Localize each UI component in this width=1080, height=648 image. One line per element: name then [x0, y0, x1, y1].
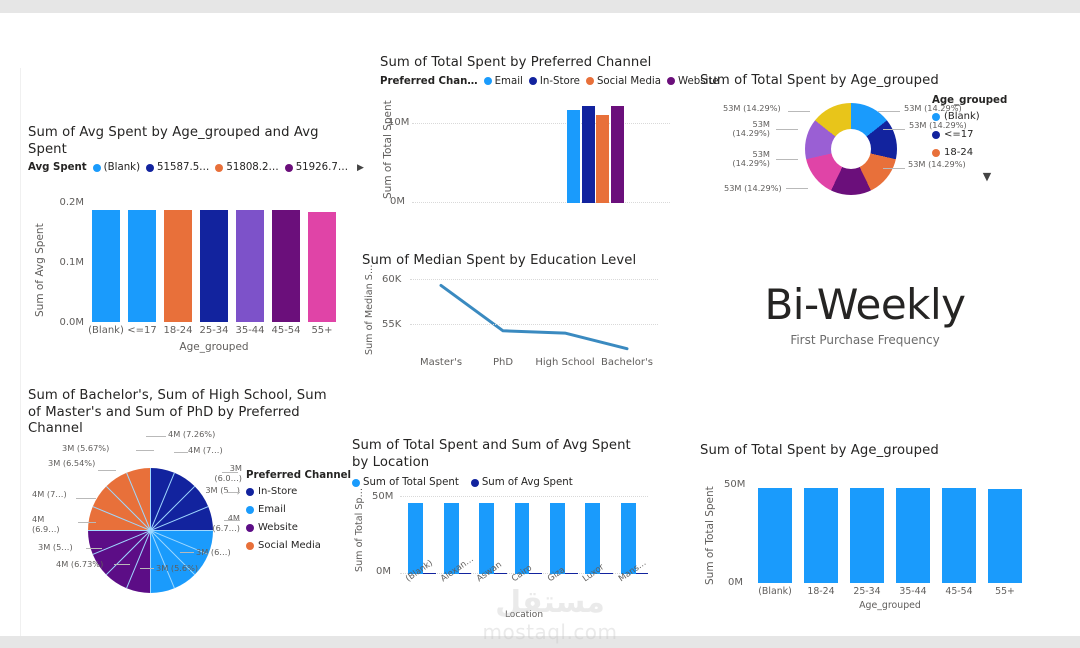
plot-area [400, 496, 648, 574]
chart-title: Sum of Total Spent and Sum of Avg Spent … [352, 438, 632, 471]
chart-title: Sum of Total Spent by Preferred Channel [380, 55, 680, 72]
chart-title: Sum of Total Spent by Age_grouped [700, 443, 1050, 460]
legend-item[interactable]: Sum of Avg Spent [471, 477, 573, 488]
slice-label: 4M (6.9…) [32, 515, 74, 534]
x-tick: (Blank) [88, 325, 124, 336]
line-series [410, 279, 658, 357]
slice-label: 3M (5.67%) [62, 444, 109, 454]
y-tick: 10M [388, 117, 409, 128]
gridline [412, 123, 670, 124]
leader-line [776, 159, 798, 160]
plot-area [752, 483, 1028, 583]
y-tick: 50M [372, 491, 393, 502]
legend-item[interactable]: Social Media [246, 540, 366, 551]
bar[interactable] [611, 106, 624, 203]
legend-item[interactable]: Email [484, 76, 523, 87]
slice-label: 53M (14.29%) [724, 184, 782, 193]
legend-swatch-icon [246, 524, 254, 532]
leader-line [86, 548, 102, 549]
x-axis-ticks: (Blank)Alexan…AswanCairoGizaLuxorMans… [400, 574, 648, 604]
bar[interactable] [804, 488, 837, 583]
x-tick: PhD [493, 357, 513, 368]
chart-title: Sum of Avg Spent by Age_grouped and Avg … [28, 125, 358, 158]
legend-swatch-icon [529, 77, 537, 85]
report-canvas: Sum of Avg Spent by Age_grouped and Avg … [0, 13, 1080, 636]
caret-down-icon[interactable]: ▼ [932, 170, 1042, 183]
y-tick: 0.1M [59, 257, 84, 268]
x-tick: 18-24 [163, 325, 192, 336]
pie-separator [106, 486, 151, 531]
leader-line [883, 168, 905, 169]
chart-total-spent-by-age-bar[interactable]: Sum of Total Spent by Age_grouped Sum of… [700, 443, 1050, 613]
x-tick: Bachelor's [601, 357, 653, 368]
legend-swatch-icon [215, 164, 223, 172]
x-axis-title: Location [400, 610, 648, 620]
pie-separator [150, 486, 195, 531]
leader-line [224, 520, 240, 521]
legend-age-grouped[interactable]: Age_grouped (Blank) <=17 18-24 ▼ [932, 95, 1042, 183]
plot-area [410, 279, 658, 357]
legend-swatch-icon [667, 77, 675, 85]
legend-item[interactable]: (Blank) [93, 162, 140, 173]
legend-item-label: In-Store [540, 76, 580, 87]
bar[interactable] [758, 488, 791, 583]
leader-line [224, 492, 240, 493]
pie-separator [88, 530, 151, 531]
leader-line [878, 111, 900, 112]
bar[interactable] [236, 210, 264, 322]
card-subtitle: First Purchase Frequency [700, 333, 1030, 347]
legend-item-label: Sum of Total Spent [363, 477, 459, 488]
legend-item[interactable]: Social Media [586, 76, 661, 87]
leader-line [883, 129, 905, 130]
canvas-left-rule [20, 68, 21, 636]
card-value: Bi-Weekly [700, 283, 1030, 327]
legend-item-label: (Blank) [104, 162, 140, 173]
legend-item-label: 18-24 [944, 147, 973, 158]
y-axis-title: Sum of Total Sp… [354, 498, 365, 572]
slice-label: 4M (7.26%) [168, 430, 215, 440]
donut-hole [831, 129, 871, 169]
legend-swatch-icon [246, 488, 254, 496]
legend-item-label: 51808.2… [226, 162, 278, 173]
bar[interactable] [200, 210, 228, 322]
y-axis-title: Sum of Total Spent [704, 489, 716, 585]
legend-swatch-icon [246, 506, 254, 514]
leader-line [776, 129, 798, 130]
x-tick: 25-34 [199, 325, 228, 336]
x-axis-title: Age_grouped [88, 341, 340, 353]
legend-title: Preferred Channel [246, 470, 366, 481]
y-axis-ticks: 0.0M 0.1M 0.2M [36, 189, 84, 329]
legend-item[interactable]: 18-24 [932, 147, 1042, 158]
y-axis-title: Sum of Median S… [364, 281, 375, 355]
bar[interactable] [128, 210, 156, 322]
x-tick: (Blank) [758, 586, 791, 597]
bar[interactable] [582, 106, 595, 203]
legend-preferred-channel[interactable]: Preferred Chan… Email In-Store Social Me… [380, 76, 680, 87]
legend-item-label: (Blank) [944, 111, 980, 122]
legend-item-label: 51587.5… [157, 162, 209, 173]
legend-item[interactable]: 51926.7… [285, 162, 348, 173]
legend-swatch-icon [586, 77, 594, 85]
legend-item-label: Sum of Avg Spent [482, 477, 573, 488]
leader-line [174, 452, 188, 453]
y-tick: 50M [724, 479, 745, 490]
slice-label: 4M (6.73%) [56, 560, 103, 570]
chart-title: Sum of Total Spent by Age_grouped [700, 73, 1050, 90]
slice-label: 53M (14.29%) [718, 120, 770, 139]
chart-total-spent-by-age-donut[interactable]: Sum of Total Spent by Age_grouped 53M (1… [700, 73, 1050, 213]
legend-swatch-icon [93, 164, 101, 172]
plot-area [412, 99, 670, 203]
bar[interactable] [942, 488, 975, 583]
y-tick: 55K [382, 319, 401, 330]
y-tick: 0.2M [59, 197, 84, 208]
y-tick: 0M [376, 566, 391, 577]
legend-item[interactable]: <=17 [932, 129, 1042, 140]
leader-line [180, 552, 194, 553]
chart-total-spent-by-channel[interactable]: Sum of Total Spent by Preferred Channel … [380, 55, 680, 215]
legend-item-label: Website [258, 522, 298, 533]
legend-item-label: Email [495, 76, 523, 87]
leader-line [78, 522, 96, 523]
plot-area [88, 197, 340, 322]
x-axis-ticks: Master'sPhDHigh SchoolBachelor's [410, 357, 658, 371]
gridline [410, 324, 658, 325]
legend-item-label: <=17 [944, 129, 973, 140]
legend-swatch-icon [285, 164, 293, 172]
chart-total-and-avg-by-location[interactable]: Sum of Total Spent and Sum of Avg Spent … [352, 438, 682, 638]
gridline [400, 496, 648, 497]
leader-line [98, 470, 116, 471]
bar-group [567, 99, 625, 203]
legend-item-label: Email [258, 504, 286, 515]
y-tick: 60K [382, 274, 401, 285]
legend-item[interactable]: (Blank) [932, 111, 1042, 122]
x-tick: 55+ [311, 325, 332, 336]
bar[interactable] [92, 210, 120, 322]
leader-line [146, 436, 166, 437]
legend-item-label: Social Media [597, 76, 661, 87]
legend-item-label: 51926.7… [296, 162, 348, 173]
donut-graphic[interactable] [805, 103, 897, 195]
bar[interactable] [896, 488, 929, 583]
legend-swatch-icon [932, 113, 940, 121]
legend-swatch-icon [146, 164, 154, 172]
y-tick: 0M [728, 577, 743, 588]
slice-label: 3M (5…) [38, 543, 73, 553]
chart-degrees-by-channel-pie[interactable]: Sum of Bachelor's, Sum of High School, S… [28, 388, 368, 608]
x-tick: 18-24 [807, 586, 834, 597]
gridline [410, 279, 658, 280]
x-tick: 25-34 [853, 586, 880, 597]
slice-label: 3M (5…) [204, 486, 240, 496]
pie-graphic[interactable] [88, 468, 213, 593]
slice-label: 3M (6.54%) [48, 459, 96, 469]
legend-swatch-icon [932, 149, 940, 157]
legend-title: Age_grouped [932, 95, 1042, 106]
legend-item[interactable]: 51808.2… [215, 162, 278, 173]
leader-line [222, 472, 238, 473]
legend-title: Preferred Chan… [380, 76, 478, 87]
bar-total-spent[interactable] [550, 503, 565, 575]
window-chrome-top [0, 0, 1080, 13]
x-tick: 35-44 [235, 325, 264, 336]
leader-line [114, 564, 130, 565]
y-tick: 0.0M [59, 317, 84, 328]
legend-title: Avg Spent [28, 162, 87, 173]
slice-label: 3M (6.0…) [200, 464, 242, 483]
slice-label: 53M (14.29%) [718, 150, 770, 169]
leader-line [140, 568, 154, 569]
gridline [412, 202, 670, 203]
x-tick: 35-44 [899, 586, 926, 597]
x-tick: Master's [420, 357, 462, 368]
legend-item[interactable]: In-Store [246, 486, 366, 497]
slice-label: 3M (6…) [196, 548, 231, 558]
legend-item[interactable]: In-Store [529, 76, 580, 87]
bar[interactable] [567, 110, 580, 203]
x-tick: 45-54 [271, 325, 300, 336]
bar[interactable] [164, 210, 192, 322]
x-tick: 55+ [995, 586, 1015, 597]
legend-avg-spent[interactable]: Avg Spent (Blank) 51587.5… 51808.2… 5192… [28, 162, 358, 173]
y-tick: 0M [390, 196, 405, 207]
x-tick: High School [535, 357, 594, 368]
slice-label: 4M (7…) [188, 446, 223, 456]
legend-swatch-icon [484, 77, 492, 85]
legend-swatch-icon [352, 479, 360, 487]
pie-separator [150, 531, 151, 594]
slice-label: 53M (14.29%) [723, 104, 781, 113]
legend-swatch-icon [471, 479, 479, 487]
bar[interactable] [850, 488, 883, 583]
legend-item[interactable]: Sum of Total Spent [352, 477, 459, 488]
legend-item[interactable]: Email [246, 504, 366, 515]
leader-line [76, 498, 96, 499]
legend-swatch-icon [932, 131, 940, 139]
legend-item-label: Social Media [258, 540, 321, 551]
legend-item-label: In-Store [258, 486, 297, 497]
legend-item[interactable]: Website [246, 522, 366, 533]
leader-line [788, 111, 810, 112]
x-axis-ticks: (Blank)18-2425-3435-4445-5455+ [752, 586, 1028, 600]
chart-avg-spent-by-age[interactable]: Sum of Avg Spent by Age_grouped and Avg … [28, 125, 358, 365]
x-axis-ticks: (Blank)<=1718-2425-3435-4445-5455+ [88, 325, 340, 339]
bar[interactable] [988, 489, 1021, 583]
legend-swatch-icon [246, 542, 254, 550]
legend-item[interactable]: 51587.5… [146, 162, 209, 173]
bar[interactable] [272, 210, 300, 322]
chart-title: Sum of Median Spent by Education Level [362, 253, 672, 270]
x-tick: 45-54 [945, 586, 972, 597]
chart-median-spent-by-education[interactable]: Sum of Median Spent by Education Level S… [362, 253, 672, 373]
leader-line [136, 450, 154, 451]
slice-label: 4M (6.7…) [200, 514, 240, 533]
card-first-purchase-frequency[interactable]: Bi-Weekly First Purchase Frequency [700, 283, 1030, 363]
leader-line [786, 188, 808, 189]
slice-label: 3M (5.6%) [156, 564, 198, 574]
legend-preferred-channel-pie[interactable]: Preferred Channel In-Store Email Website… [246, 470, 366, 558]
caret-right-icon[interactable]: ▶ [357, 163, 364, 173]
bar[interactable] [596, 115, 609, 203]
slice-label: 4M (7…) [32, 490, 72, 500]
x-tick: <=17 [127, 325, 156, 336]
legend-location[interactable]: Sum of Total Spent Sum of Avg Spent [352, 477, 682, 488]
pie-separator [150, 468, 151, 531]
bar[interactable] [308, 212, 336, 322]
x-axis-title: Age_grouped [752, 600, 1028, 611]
